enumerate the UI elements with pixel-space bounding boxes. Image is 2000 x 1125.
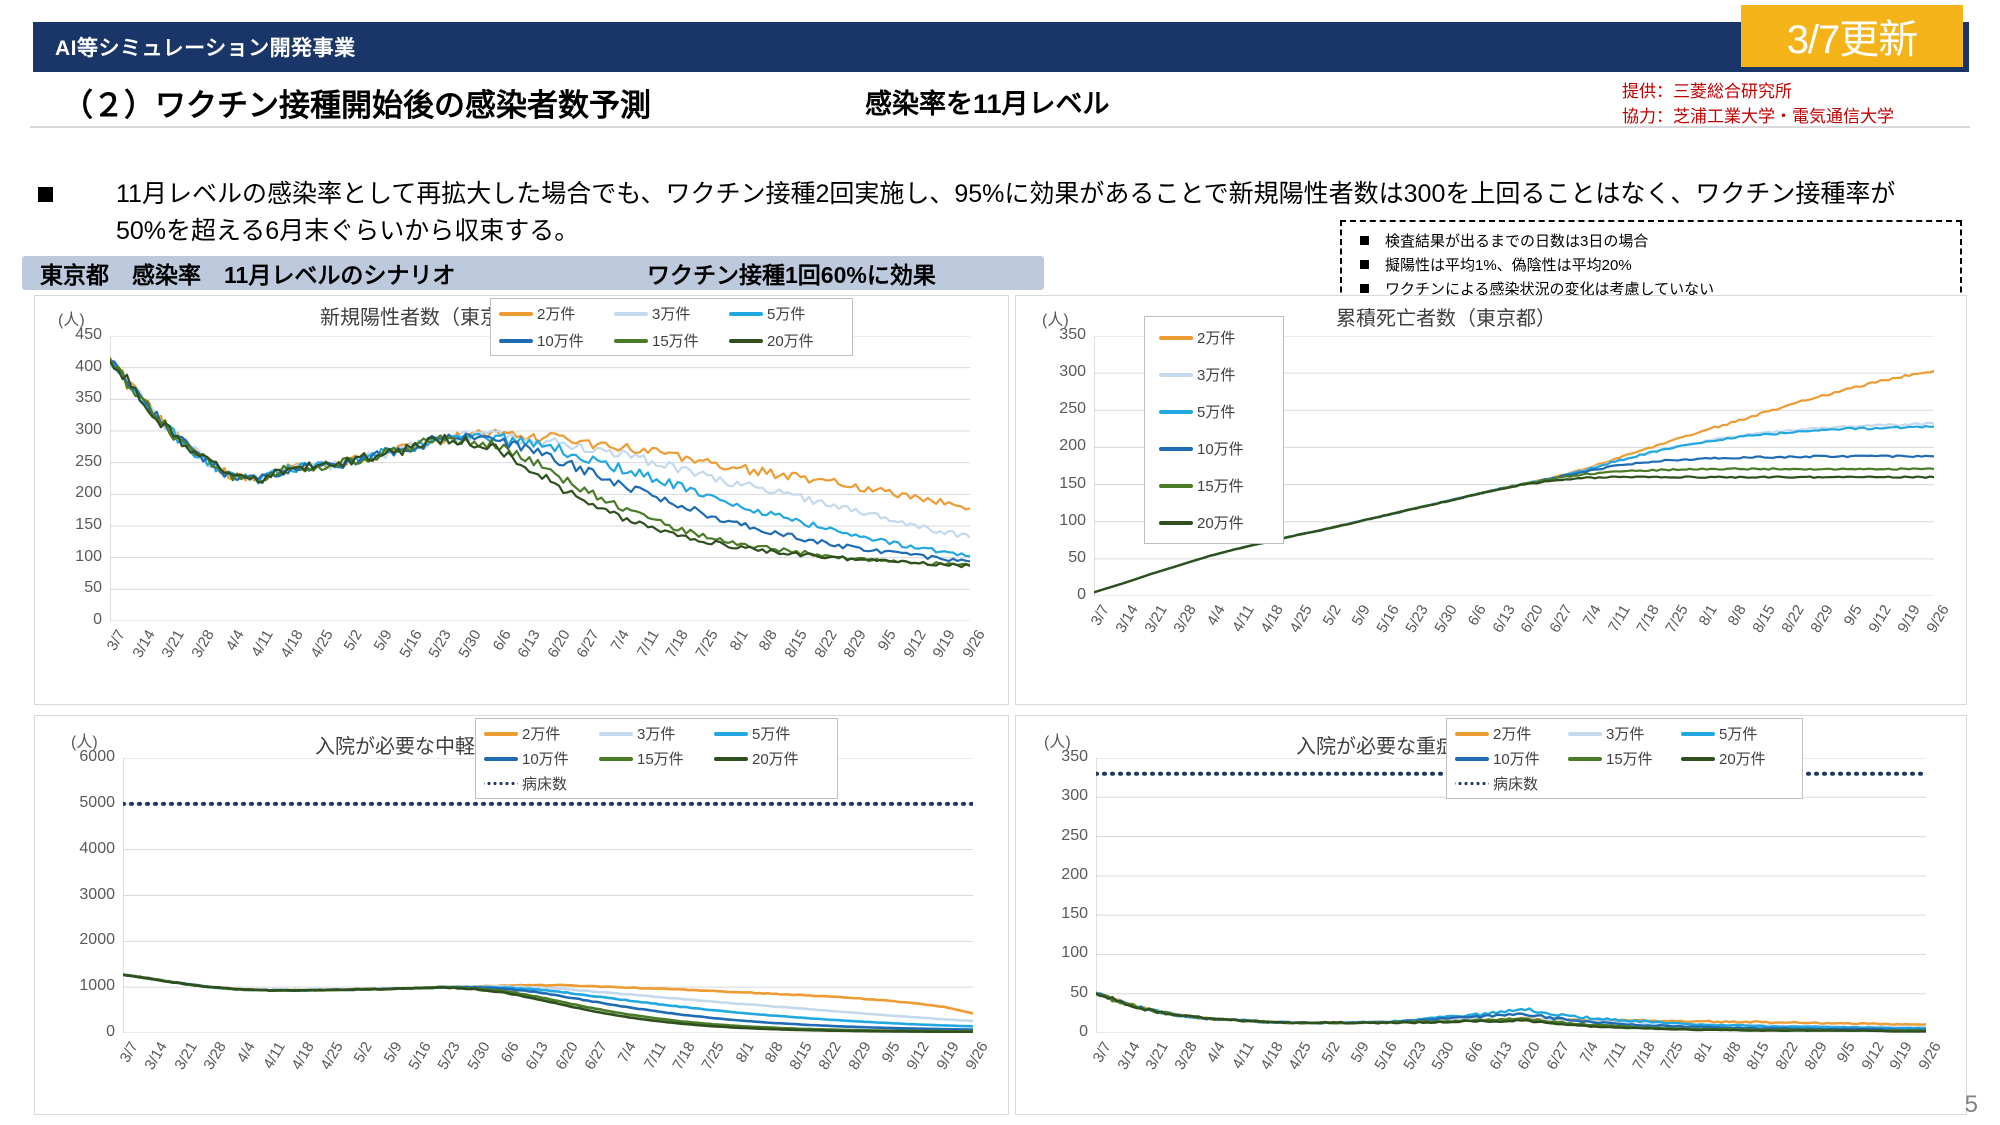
y-axis-tick-label: 300 [50, 421, 102, 439]
plot-area [110, 336, 970, 621]
legend-item[interactable]: 15万件 [614, 330, 729, 351]
bullet-square-icon [38, 187, 53, 202]
legend-color-swatch [614, 312, 648, 316]
y-axis-tick-label: 100 [50, 548, 102, 566]
y-axis-tick-label: 350 [1036, 748, 1088, 766]
legend-item[interactable]: 15万件 [599, 748, 714, 769]
legend-color-swatch [599, 757, 633, 761]
legend-color-swatch [1455, 732, 1489, 736]
legend-color-swatch [729, 339, 763, 343]
y-axis-tick-label: 1000 [63, 977, 115, 995]
legend-color-swatch [714, 732, 748, 736]
y-axis-tick-label: 200 [1034, 437, 1086, 455]
legend-item[interactable]: 2万件 [1455, 723, 1568, 744]
y-axis-tick-label: 100 [1036, 944, 1088, 962]
note-item: 検査結果が出るまでの日数は3日の場合 [1360, 230, 1960, 251]
y-axis-tick-label: 3000 [63, 886, 115, 904]
legend-color-swatch [1159, 336, 1193, 340]
legend-item-label: 10万件 [1493, 748, 1540, 769]
legend-item[interactable]: 10万件 [484, 748, 599, 769]
credit-line-1: 提供：三菱総合研究所 [1622, 80, 1894, 105]
legend-item[interactable]: 3万件 [1568, 723, 1681, 744]
legend-item[interactable]: 20万件 [1681, 748, 1794, 769]
legend-item-label: 15万件 [652, 330, 699, 351]
legend-item-label: 3万件 [652, 303, 690, 324]
legend-item[interactable]: 3万件 [614, 303, 729, 324]
legend-item[interactable]: 10万件 [499, 330, 614, 351]
legend-item-label: 2万件 [522, 723, 560, 744]
legend-item-label: 20万件 [767, 330, 814, 351]
legend-item-label: 5万件 [752, 723, 790, 744]
chart-panel-cumulative-deaths: (人)累積死亡者数（東京都）0501001502002503003503/73/… [1015, 295, 1967, 705]
y-axis-tick-label: 200 [50, 484, 102, 502]
legend-color-swatch [599, 732, 633, 736]
legend-item[interactable]: 3万件 [599, 723, 714, 744]
plot-area [123, 758, 973, 1033]
legend-item[interactable]: 15万件 [1568, 748, 1681, 769]
legend-color-swatch [1159, 521, 1193, 525]
legend-color-swatch [614, 339, 648, 343]
legend-item[interactable]: 5万件 [729, 303, 844, 324]
legend-item-bed-capacity[interactable]: 病床数 [484, 773, 599, 794]
page-number: 5 [1965, 1091, 1978, 1119]
legend-item[interactable]: 5万件 [714, 723, 829, 744]
legend-item-label: 病床数 [1493, 773, 1538, 794]
page-subtitle: 感染率を11月レベル [865, 82, 1110, 121]
note-item: 擬陽性は平均1%、偽陰性は平均20% [1360, 254, 1960, 275]
y-axis-tick-label: 0 [1036, 1023, 1088, 1041]
note-item-label: 擬陽性は平均1%、偽陰性は平均20% [1385, 254, 1632, 275]
legend-item-label: 2万件 [1197, 327, 1235, 348]
legend-item-label: 5万件 [767, 303, 805, 324]
chart-legend: 2万件3万件5万件10万件15万件20万件病床数 [475, 718, 838, 799]
scenario-bar-right-label: ワクチン接種1回60%に効果 [647, 256, 936, 290]
y-axis-tick-label: 450 [50, 326, 102, 344]
legend-item[interactable]: 20万件 [1159, 512, 1269, 533]
legend-color-swatch [714, 757, 748, 761]
legend-item-label: 2万件 [1493, 723, 1531, 744]
y-axis-tick-label: 300 [1034, 363, 1086, 381]
y-axis-tick-label: 50 [1036, 984, 1088, 1002]
y-axis-tick-label: 100 [1034, 512, 1086, 530]
scenario-bar-left-label: 東京都 感染率 11月レベルのシナリオ [40, 256, 455, 290]
legend-item[interactable]: 20万件 [714, 748, 829, 769]
legend-item-label: 10万件 [1197, 438, 1244, 459]
legend-color-swatch [1159, 373, 1193, 377]
y-axis-tick-label: 200 [1036, 866, 1088, 884]
legend-item-label: 病床数 [522, 773, 567, 794]
note-item-label: 検査結果が出るまでの日数は3日の場合 [1385, 230, 1648, 251]
legend-item[interactable]: 2万件 [499, 303, 614, 324]
legend-color-swatch [484, 757, 518, 761]
y-axis-tick-label: 6000 [63, 748, 115, 766]
legend-item[interactable]: 5万件 [1159, 401, 1269, 422]
legend-item[interactable]: 20万件 [729, 330, 844, 351]
legend-color-swatch [1568, 732, 1602, 736]
legend-item-label: 3万件 [1197, 364, 1235, 385]
bullet-square-icon [1360, 260, 1369, 269]
legend-color-swatch [499, 339, 533, 343]
legend-item[interactable]: 3万件 [1159, 364, 1269, 385]
scenario-bar: 東京都 感染率 11月レベルのシナリオ ワクチン接種1回60%に効果 [22, 256, 1044, 290]
chart-legend: 2万件3万件5万件10万件15万件20万件 [490, 298, 853, 356]
y-axis-tick-label: 5000 [63, 794, 115, 812]
chart-legend: 2万件3万件5万件10万件15万件20万件病床数 [1446, 718, 1803, 799]
page-title: （２）ワクチン接種開始後の感染者数予測 [62, 80, 651, 125]
plot-area [1096, 758, 1926, 1033]
legend-color-swatch [484, 732, 518, 736]
legend-color-swatch [1455, 757, 1489, 761]
legend-item-label: 10万件 [537, 330, 584, 351]
y-axis-tick-label: 0 [1034, 586, 1086, 604]
legend-color-swatch [1681, 757, 1715, 761]
y-axis-tick-label: 150 [1036, 905, 1088, 923]
legend-item-label: 15万件 [1606, 748, 1653, 769]
header-band: AI等シミュレーション開発事業 [33, 22, 1969, 72]
y-axis-tick-label: 350 [1034, 326, 1086, 344]
legend-item[interactable]: 2万件 [484, 723, 599, 744]
legend-item-label: 2万件 [537, 303, 575, 324]
legend-item[interactable]: 5万件 [1681, 723, 1794, 744]
bullet-square-icon [1360, 284, 1369, 293]
title-divider [30, 126, 1970, 128]
chart-title: 累積死亡者数（東京都） [1336, 302, 1556, 331]
legend-item-label: 3万件 [637, 723, 675, 744]
credit-block: 提供：三菱総合研究所 協力：芝浦工業大学・電気通信大学 [1622, 80, 1894, 129]
x-axis-tick-label: 3/7 [92, 627, 129, 674]
legend-item-label: 20万件 [1197, 512, 1244, 533]
y-axis-tick-label: 300 [1036, 787, 1088, 805]
chart-legend: 2万件3万件5万件10万件15万件20万件 [1144, 316, 1284, 544]
y-axis-tick-label: 250 [1034, 400, 1086, 418]
y-axis-tick-label: 250 [50, 453, 102, 471]
legend-color-swatch [1159, 447, 1193, 451]
legend-item[interactable]: 10万件 [1455, 748, 1568, 769]
legend-item-bed-capacity[interactable]: 病床数 [1455, 773, 1568, 794]
bullet-square-icon [1360, 236, 1369, 245]
chart-panel-moderate-hospitalized: (人)入院が必要な中軽症者数 （東京都）01000200030004000500… [34, 715, 1009, 1115]
y-axis-tick-label: 350 [50, 389, 102, 407]
legend-item-label: 20万件 [752, 748, 799, 769]
legend-item-label: 5万件 [1197, 401, 1235, 422]
legend-item-label: 15万件 [1197, 475, 1244, 496]
legend-color-swatch [1159, 410, 1193, 414]
legend-dotted-swatch [484, 781, 518, 786]
legend-color-swatch [729, 312, 763, 316]
update-badge: 3/7更新 [1741, 5, 1963, 67]
y-axis-tick-label: 400 [50, 358, 102, 376]
legend-item-label: 3万件 [1606, 723, 1644, 744]
legend-item-label: 10万件 [522, 748, 569, 769]
y-axis-tick-label: 0 [63, 1023, 115, 1041]
y-axis-tick-label: 0 [50, 611, 102, 629]
legend-item[interactable]: 15万件 [1159, 475, 1269, 496]
legend-color-swatch [1159, 484, 1193, 488]
y-axis-tick-label: 4000 [63, 840, 115, 858]
legend-item-label: 15万件 [637, 748, 684, 769]
legend-dotted-swatch [1455, 781, 1489, 786]
y-axis-tick-label: 50 [50, 579, 102, 597]
legend-item[interactable]: 2万件 [1159, 327, 1269, 348]
y-axis-tick-label: 2000 [63, 931, 115, 949]
y-axis-tick-label: 150 [50, 516, 102, 534]
legend-item[interactable]: 10万件 [1159, 438, 1269, 459]
assumptions-note-box: 検査結果が出るまでの日数は3日の場合 擬陽性は平均1%、偽陰性は平均20% ワク… [1340, 220, 1962, 302]
legend-color-swatch [499, 312, 533, 316]
chart-panel-severe-hospitalized: (人)入院が必要な重症者数 （東京都）050100150200250300350… [1015, 715, 1967, 1115]
y-axis-tick-label: 150 [1034, 475, 1086, 493]
legend-color-swatch [1681, 732, 1715, 736]
chart-panel-new-positives: (人)新規陽性者数（東京都）05010015020025030035040045… [34, 295, 1009, 705]
header-band-title: AI等シミュレーション開発事業 [55, 32, 356, 62]
slide-root: AI等シミュレーション開発事業 3/7更新 （２）ワクチン接種開始後の感染者数予… [0, 0, 2000, 1125]
legend-item-label: 20万件 [1719, 748, 1766, 769]
y-axis-tick-label: 250 [1036, 827, 1088, 845]
legend-item-label: 5万件 [1719, 723, 1757, 744]
legend-color-swatch [1568, 757, 1602, 761]
y-axis-tick-label: 50 [1034, 549, 1086, 567]
